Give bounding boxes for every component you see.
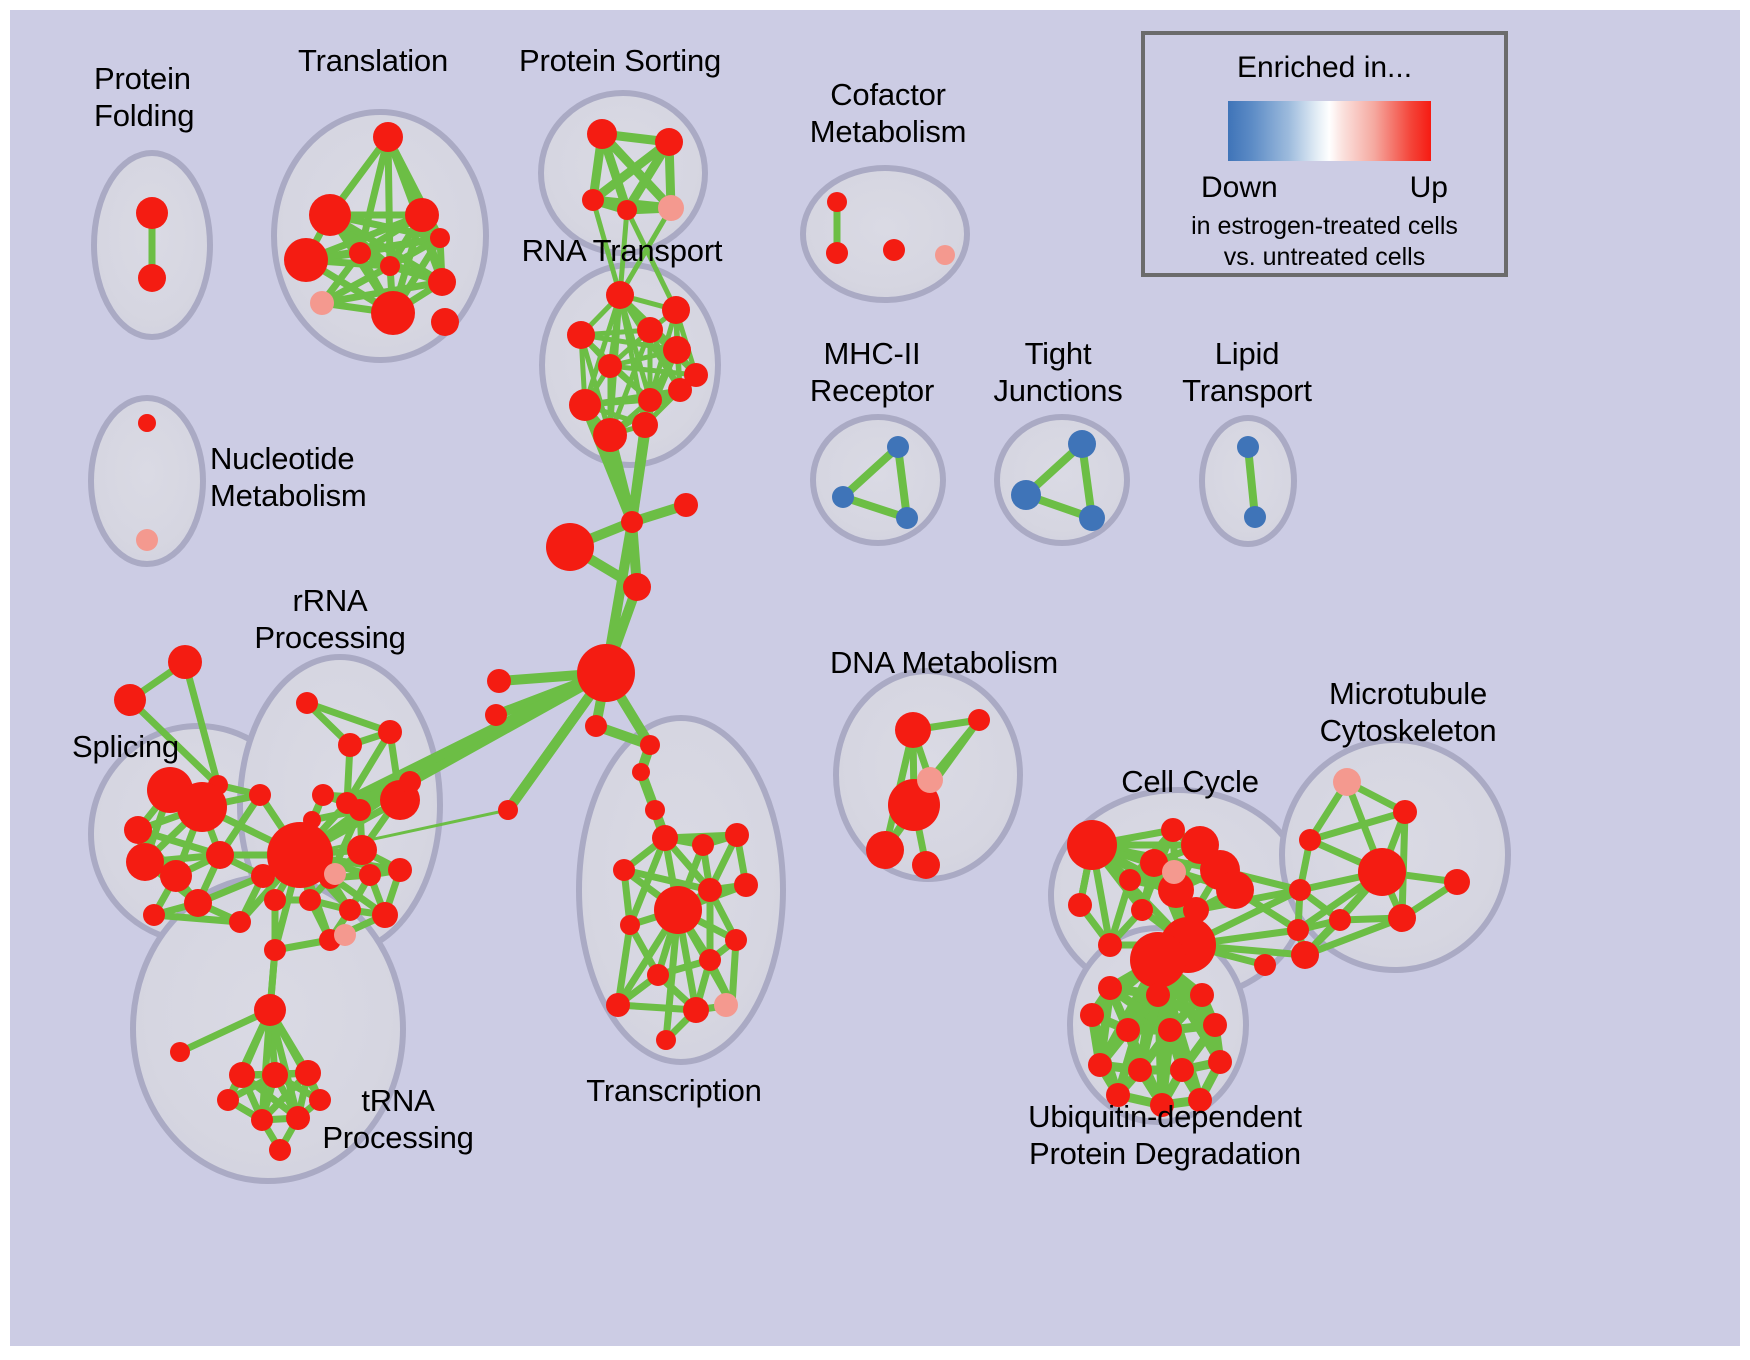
cluster-label-protein-sorting: Protein Sorting [519,42,721,79]
node [309,194,351,236]
node [1098,933,1122,957]
node [269,1139,291,1161]
node [284,238,328,282]
node [1216,871,1254,909]
node [1068,893,1092,917]
node [359,864,381,886]
cluster-label-mhc-ii-receptor: MHC-II Receptor [810,335,934,409]
node [632,412,658,438]
node [126,843,164,881]
node [170,1042,190,1062]
cluster-label-rrna-processing: rRNA Processing [254,582,405,656]
node [613,859,635,881]
node [1119,869,1141,891]
node [430,228,450,248]
node [1388,904,1416,932]
node-down [887,436,909,458]
node [229,1062,255,1088]
cluster-label-trna-processing: tRNA Processing [322,1082,473,1156]
cluster-label-rna-transport: RNA Transport [522,232,723,269]
node [399,771,421,793]
node [177,782,227,832]
node [866,831,904,869]
node [662,296,690,324]
node [168,645,202,679]
node [683,997,709,1023]
node-down [1237,436,1259,458]
node [498,800,518,820]
node-neutral [310,291,334,315]
hull-tight-junctions [997,417,1127,543]
node [295,1060,321,1086]
cluster-label-lipid-transport: Lipid Transport [1182,335,1312,409]
node-neutral [136,529,158,551]
node [674,493,698,517]
node [912,851,940,879]
node [1161,818,1185,842]
node-neutral [714,993,738,1017]
node [138,264,166,292]
node [587,119,617,149]
legend-title: Enriched in... [1145,51,1504,85]
node [1183,897,1209,923]
node [1146,983,1170,1007]
node [286,1106,310,1130]
node [654,886,702,934]
node [378,720,402,744]
node [582,189,604,211]
node-down [1068,430,1096,458]
node [1170,1058,1194,1082]
node [663,336,691,364]
node [826,242,848,264]
node [623,573,651,601]
node-down [832,486,854,508]
node [299,889,321,911]
node [1393,800,1417,824]
node [699,949,721,971]
node [249,784,271,806]
figure-canvas: Protein FoldingTranslationProtein Sortin… [0,0,1750,1360]
node [606,993,630,1017]
node [656,1030,676,1050]
node-neutral [324,863,346,885]
node [647,964,669,986]
node [968,709,990,731]
node [617,200,637,220]
node [668,378,692,402]
node [373,122,403,152]
cluster-label-protein-folding: Protein Folding [94,60,194,134]
node [637,317,663,343]
hull-mhc [813,417,943,543]
legend-high-label: Up [1410,171,1448,205]
cluster-label-microtubule-cytoskeleton: Microtubule Cytoskeleton [1320,675,1497,749]
node [184,889,212,917]
node [380,256,400,276]
cluster-label-dna-metabolism: DNA Metabolism [830,644,1058,681]
node [1358,848,1406,896]
node [883,239,905,261]
node [1329,909,1351,931]
node [621,511,643,533]
node [431,308,459,336]
node-neutral [917,767,943,793]
node-neutral [935,245,955,265]
node [160,860,192,892]
node [1098,976,1122,1000]
node [734,873,758,897]
node [652,825,678,851]
node-down [1079,505,1105,531]
node [895,712,931,748]
node [303,811,321,829]
node-neutral [658,195,684,221]
node [206,841,234,869]
node [1190,983,1214,1007]
node [1287,919,1309,941]
node [1116,1018,1140,1042]
node [725,823,749,847]
node [339,899,361,921]
node [606,281,634,309]
legend-low-label: Down [1201,171,1278,205]
node [114,684,146,716]
node [593,418,627,452]
color-gradient-bar [1228,101,1431,161]
cluster-label-splicing: Splicing [72,728,179,765]
node-down [1011,480,1041,510]
node [655,128,683,156]
node [143,904,165,926]
node [254,994,286,1026]
node [725,929,747,951]
node [428,268,456,296]
node [1128,1058,1152,1082]
node [827,192,847,212]
cluster-label-transcription: Transcription [586,1072,761,1109]
node [487,669,511,693]
network-plot-area: Protein FoldingTranslationProtein Sortin… [10,10,1740,1346]
legend-box: Enriched in... Down Up in estrogen-treat… [1141,31,1508,277]
node [296,692,318,714]
node [632,763,650,781]
node-neutral [1162,860,1186,884]
node [698,878,722,902]
node [371,291,415,335]
node [349,242,371,264]
node-neutral [1333,768,1361,796]
node [312,784,334,806]
node [349,799,371,821]
node [217,1089,239,1111]
legend-caption-line2: vs. untreated cells [1145,242,1504,273]
node [262,1062,288,1088]
node [546,523,594,571]
node [1299,829,1321,851]
node [388,858,412,882]
node [405,198,439,232]
node [585,715,607,737]
node [620,915,640,935]
node [136,197,168,229]
node [372,902,398,928]
node-neutral [334,924,356,946]
node [264,889,286,911]
hull-cofactor [803,168,967,300]
node [338,733,362,757]
node [1444,869,1470,895]
node [229,911,251,933]
node [569,389,601,421]
node [598,354,622,378]
node [640,735,660,755]
cluster-label-ubiquitin-protein-degradation: Ubiquitin-dependent Protein Degradation [1028,1098,1302,1172]
node [1254,954,1276,976]
node [264,939,286,961]
node [1088,1053,1112,1077]
node [1158,1018,1182,1042]
node [645,800,665,820]
node [1130,932,1186,988]
cluster-label-cofactor-metabolism: Cofactor Metabolism [810,76,967,150]
node [692,834,714,856]
node [567,321,595,349]
node [1203,1013,1227,1037]
legend-caption: in estrogen-treated cells vs. untreated … [1145,211,1504,273]
node [1289,879,1311,901]
node [638,388,662,412]
cluster-label-translation: Translation [298,42,448,79]
cluster-label-nucleotide-metabolism: Nucleotide Metabolism [210,440,367,514]
node [1080,1003,1104,1027]
node [1208,1050,1232,1074]
legend-caption-line1: in estrogen-treated cells [1145,211,1504,242]
node [485,704,507,726]
node [1291,941,1319,969]
node [1067,820,1117,870]
node [1131,899,1153,921]
cluster-label-tight-junctions: Tight Junctions [993,335,1122,409]
node [138,414,156,432]
node-down [1244,506,1266,528]
node [251,1109,273,1131]
node [124,816,152,844]
node [577,644,635,702]
cluster-label-cell-cycle: Cell Cycle [1121,763,1259,800]
node-down [896,507,918,529]
node [347,835,377,865]
